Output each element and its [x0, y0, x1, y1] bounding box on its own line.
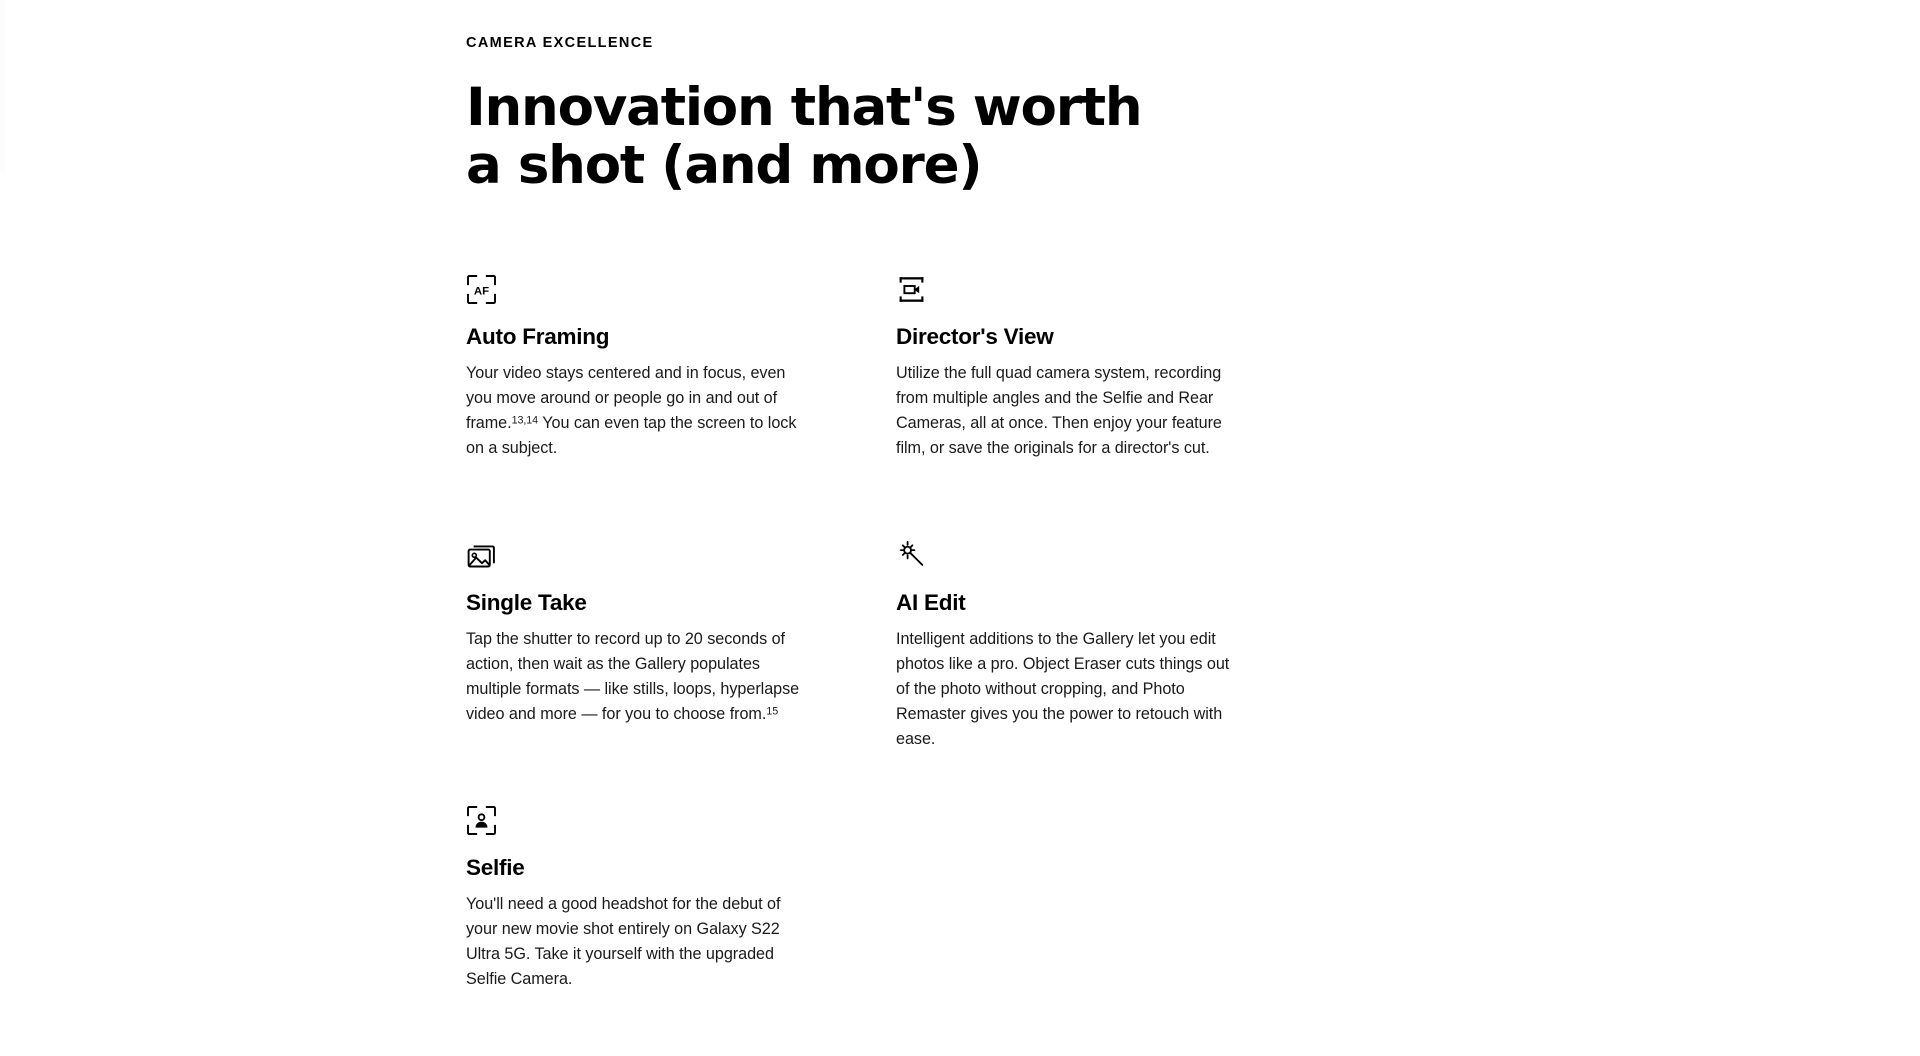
feature-row: AF Auto Framing Your video stays centere… [466, 274, 1326, 540]
feature-footnote-ref: 15 [766, 705, 778, 717]
camera-excellence-section: CAMERA EXCELLENCE Innovation that's wort… [0, 0, 1920, 1056]
ai-edit-icon [896, 540, 927, 571]
feature-title: AI Edit [896, 571, 1246, 617]
feature-description-part-1: Tap the shutter to record up to 20 secon… [466, 630, 799, 723]
feature-title: Selfie [466, 836, 816, 882]
feature-description: Tap the shutter to record up to 20 secon… [466, 617, 806, 727]
feature-description-part-1: You'll need a good headshot for the debu… [466, 895, 780, 988]
page-title-line-2: a shot (and more) [466, 137, 1326, 195]
feature-row: Single Take Tap the shutter to record up… [466, 540, 1326, 805]
feature-description-part-1: Utilize the full quad camera system, rec… [896, 364, 1222, 457]
feature-title: Single Take [466, 571, 816, 617]
selfie-icon [466, 805, 497, 836]
feature-card-ai-edit: AI Edit Intelligent additions to the Gal… [896, 540, 1326, 805]
feature-footnote-ref: 13,14 [512, 415, 539, 427]
feature-description: You'll need a good headshot for the debu… [466, 882, 806, 992]
feature-card-selfie: Selfie You'll need a good headshot for t… [466, 805, 896, 1005]
feature-title: Director's View [896, 305, 1246, 351]
feature-title: Auto Framing [466, 305, 816, 351]
auto-framing-icon: AF [466, 274, 497, 305]
feature-card-single-take: Single Take Tap the shutter to record up… [466, 540, 896, 805]
page-title-line-1: Innovation that's worth [466, 79, 1326, 137]
feature-grid: AF Auto Framing Your video stays centere… [466, 274, 1326, 1005]
feature-card-directors-view: Director's View Utilize the full quad ca… [896, 274, 1326, 540]
single-take-icon [466, 540, 497, 571]
page-title: Innovation that's worth a shot (and more… [466, 52, 1326, 195]
section-eyebrow: CAMERA EXCELLENCE [466, 0, 1326, 52]
directors-view-icon [896, 274, 927, 305]
feature-description: Your video stays centered and in focus, … [466, 351, 806, 461]
svg-text:AF: AF [474, 285, 489, 297]
feature-card-auto-framing: AF Auto Framing Your video stays centere… [466, 274, 896, 540]
feature-row: Selfie You'll need a good headshot for t… [466, 805, 1326, 1005]
section-header: CAMERA EXCELLENCE Innovation that's wort… [466, 0, 1326, 195]
feature-description: Intelligent additions to the Gallery let… [896, 617, 1236, 752]
feature-description-part-1: Intelligent additions to the Gallery let… [896, 630, 1229, 748]
feature-description: Utilize the full quad camera system, rec… [896, 351, 1236, 461]
